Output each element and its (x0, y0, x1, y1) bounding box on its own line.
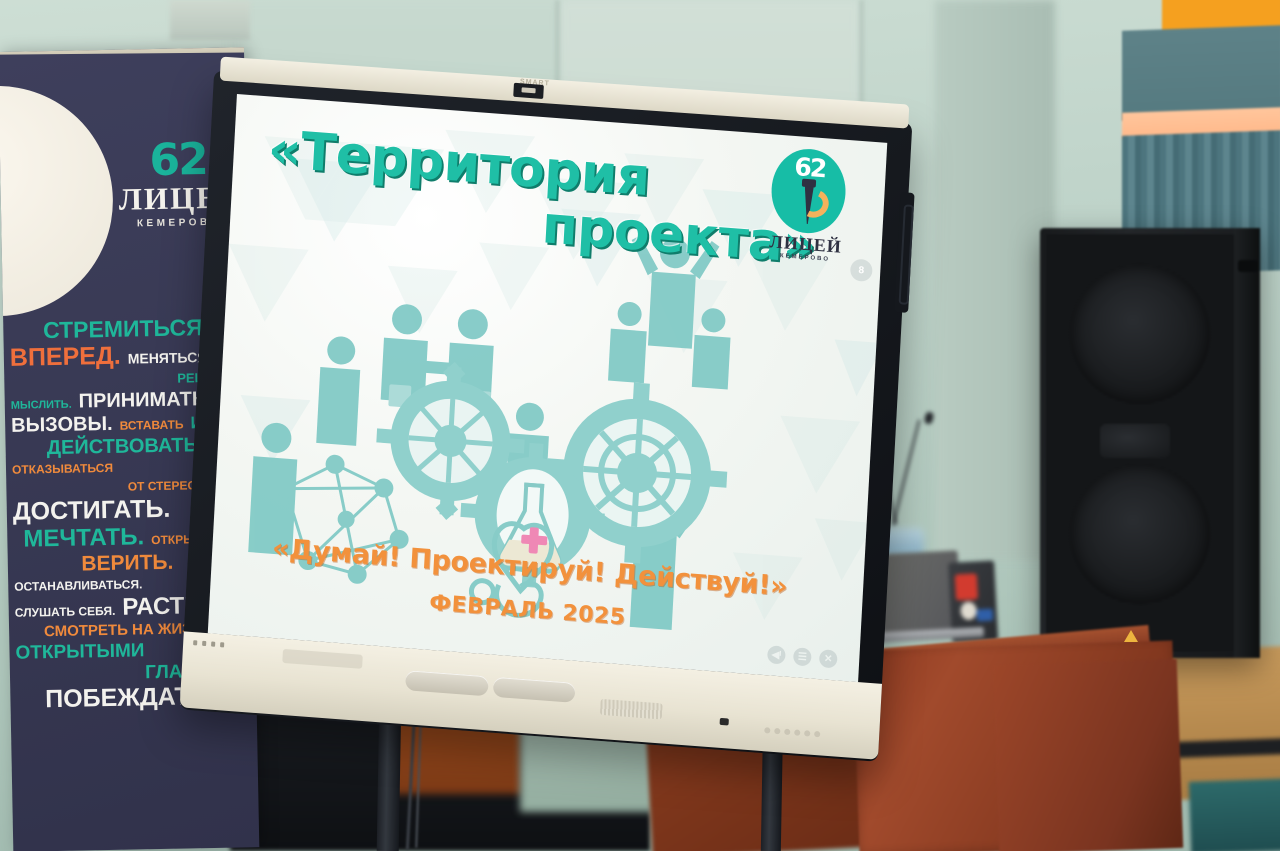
banner-word: ДЕЙСТВОВАТЬ. (47, 435, 204, 458)
slide-logo: 62 ЛИЦЕЙ КЕМЕРОВО (757, 146, 859, 265)
display-button-row[interactable] (764, 727, 834, 740)
speaker-tweeter (1100, 424, 1170, 458)
banner-word: ОСТАНАВЛИВАТЬСЯ. (14, 578, 142, 592)
interactive-display[interactable]: SMART (180, 70, 913, 762)
banner-word: ВПЕРЕД. (10, 344, 121, 371)
stylus-pen-2[interactable] (492, 677, 575, 703)
valance-teal-band (1122, 25, 1280, 121)
stylus-pen-tray[interactable] (405, 670, 576, 703)
presentation-slide[interactable]: «Территория проекта» «Думай! Проектируй!… (208, 94, 888, 682)
speaker-icon[interactable]: ◀ᴵ (767, 645, 786, 664)
speaker-handle (1238, 260, 1258, 272)
banner-logo-circle (0, 84, 115, 318)
speaker-side-panel (1234, 228, 1260, 658)
banner-word: ВЫЗОВЫ. (11, 414, 113, 436)
banner-word: ВСТАВАТЬ (120, 419, 184, 432)
banner-word: МЕНЯТЬСЯ (128, 350, 208, 366)
close-icon[interactable]: ✕ (819, 649, 838, 668)
display-speaker-grille-left (282, 649, 363, 669)
display-screen[interactable]: «Территория проекта» «Думай! Проектируй!… (208, 94, 888, 682)
display-ir-sensor (513, 83, 544, 99)
podium-front-face (993, 659, 1183, 851)
laptop-sticker-blue (977, 609, 994, 622)
banner-word: СЛУШАТЬ СЕБЯ. (15, 605, 116, 619)
banner-word: СТРЕМИТЬСЯ (43, 316, 203, 342)
teal-rug (1189, 778, 1280, 851)
banner-word: МЕЧТАТЬ. (23, 525, 144, 551)
banner-word: МЫСЛИТЬ. (11, 400, 72, 412)
menu-icon[interactable]: ☰ (793, 647, 812, 666)
display-indicator-leds (193, 638, 245, 650)
speaker-woofer-bottom (1070, 464, 1210, 604)
slide-logo-hand-icon (795, 186, 832, 222)
banner-word: ОТКАЗЫВАТЬСЯ (12, 462, 113, 476)
stylus-pen-1[interactable] (405, 670, 488, 696)
window-blind (170, 0, 250, 40)
banner-word: ВЕРИТЬ. (81, 552, 173, 575)
room-scene: 62 ЛИЦЕЙ КЕМЕРОВО СТРЕМИТЬСЯВПЕРЕД.МЕНЯТ… (0, 0, 1280, 851)
speaker-woofer-top (1070, 264, 1210, 404)
banner-word: ОТКРЫТЫМИ (15, 641, 144, 662)
pa-speaker (1040, 228, 1260, 658)
slide-logo-circle: 62 (769, 146, 847, 235)
banner-word: ПРИНИМАТЬ (78, 389, 206, 411)
display-sensor-dot (720, 718, 729, 726)
wall-edge-right (935, 0, 1055, 560)
banner-word: ДОСТИГАТЬ. (13, 497, 171, 525)
laptop-sticker-red (955, 573, 978, 600)
display-speaker-grille-right (600, 699, 663, 720)
